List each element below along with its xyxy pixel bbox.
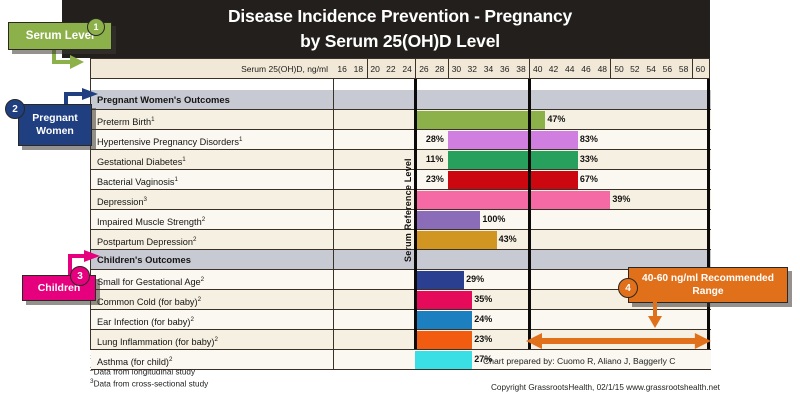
callout-pregnant-women-line1: Pregnant [32, 112, 78, 125]
axis-tick-30: 30 [448, 59, 464, 79]
chart-bar[interactable] [415, 351, 472, 369]
bar-value-label: 29% [466, 270, 484, 290]
axis-tick-42: 42 [545, 59, 561, 79]
chart-row-label: Asthma (for child)2 [91, 350, 334, 369]
bar-start-value-label: 28% [426, 130, 444, 150]
chart-row-label: Small for Gestational Age2 [91, 270, 334, 289]
footnote-3: 3Data from cross-sectional study [90, 378, 208, 389]
bar-start-value-label: 11% [426, 150, 444, 170]
chart-row-label: Ear Infection (for baby)2 [91, 310, 334, 329]
recommended-range-arrow [524, 331, 713, 351]
axis-tick-44: 44 [562, 59, 578, 79]
chart-bar[interactable] [415, 191, 610, 209]
chart-row-label-note: 3 [143, 196, 146, 203]
chart-row-label-note: 2 [201, 276, 204, 283]
chart-bar[interactable] [415, 231, 496, 249]
section-header-row: Pregnant Women's Outcomes [91, 90, 711, 110]
axis-tick-26: 26 [415, 59, 431, 79]
chart-row-label-note: 2 [193, 236, 196, 243]
connector-serum-level [48, 48, 94, 72]
bar-start-value-label: 23% [426, 170, 444, 190]
bar-value-label: 35% [474, 290, 492, 310]
chart-row-label: Hypertensive Pregnancy Disorders1 [91, 130, 334, 149]
axis-tick-60: 60 [692, 59, 708, 79]
axis-tick-22: 22 [383, 59, 399, 79]
range-line-60 [707, 79, 710, 349]
badge-2-number: 2 [12, 104, 18, 115]
bar-value-label: 27% [474, 350, 492, 370]
section-header-row: Children's Outcomes [91, 250, 711, 270]
bar-value-label: 100% [482, 210, 505, 230]
chart-row-label: Postpartum Depression2 [91, 230, 334, 249]
section-header-label: Pregnant Women's Outcomes [91, 90, 334, 109]
axis-tick-46: 46 [578, 59, 594, 79]
title-line-1: Disease Incidence Prevention - Pregnancy [90, 4, 710, 29]
axis-tick-24: 24 [399, 59, 415, 79]
chart-row-label-note: 2 [214, 336, 217, 343]
axis-tick-20: 20 [367, 59, 383, 79]
chart-bar[interactable] [448, 171, 578, 189]
connector-recommended-range [646, 296, 672, 330]
footnote-3-text: Data from cross-sectional study [94, 380, 209, 389]
page-title: Disease Incidence Prevention - Pregnancy… [90, 4, 710, 56]
axis-tick-16: 16 [334, 59, 350, 79]
chart-row[interactable]: Preterm Birth147% [91, 110, 711, 130]
chart-row-label-note: 1 [174, 176, 177, 183]
callout-serum-level-label: Serum Level [26, 30, 94, 42]
chart-row-label-note: 1 [239, 136, 242, 143]
axis-tick-18: 18 [350, 59, 366, 79]
chart-bar[interactable] [415, 331, 472, 349]
chart-frame: Serum 25(OH)D, ng/ml 1618202224262830323… [90, 58, 710, 350]
chart-row[interactable]: Common Cold (for baby)235% [91, 290, 711, 310]
axis-tick-58: 58 [675, 59, 691, 79]
axis-tick-38: 38 [513, 59, 529, 79]
badge-3-number: 3 [77, 271, 83, 282]
infographic-root: Disease Incidence Prevention - Pregnancy… [0, 0, 800, 401]
chart-row-label: Common Cold (for baby)2 [91, 290, 334, 309]
chart-row-label-note: 2 [198, 296, 201, 303]
chart-bar[interactable] [415, 211, 480, 229]
bar-value-label: 83% [580, 130, 598, 150]
chart-credit: Chart prepared by: Cuomo R, Aliano J, Ba… [483, 356, 676, 366]
chart-bar[interactable] [415, 311, 472, 329]
chart-row-label: Depression3 [91, 190, 334, 209]
chart-row-label: Lung Inflammation (for baby)2 [91, 330, 334, 349]
callout-range-line2: Range [692, 285, 723, 298]
axis-tick-54: 54 [643, 59, 659, 79]
chart-row[interactable]: Hypertensive Pregnancy Disorders183%28% [91, 130, 711, 150]
chart-bar[interactable] [415, 291, 472, 309]
chart-row-label: Bacterial Vaginosis1 [91, 170, 334, 189]
chart-bar[interactable] [448, 131, 578, 149]
badge-1-number: 1 [93, 22, 98, 32]
range-line-40 [528, 79, 531, 349]
bar-value-label: 24% [474, 310, 492, 330]
axis-tick-56: 56 [659, 59, 675, 79]
axis-tick-36: 36 [497, 59, 513, 79]
title-line-2: by Serum 25(OH)D Level [90, 29, 710, 54]
reference-level-caption: Serum Reference Level [403, 112, 413, 262]
chart-row[interactable]: Gestational Diabetes133%11% [91, 150, 711, 170]
axis-tick-52: 52 [627, 59, 643, 79]
copyright-text: Copyright GrassrootsHealth, 02/1/15 www.… [491, 383, 720, 392]
chart-row[interactable]: Depression339% [91, 190, 711, 210]
bar-value-label: 67% [580, 170, 598, 190]
bar-value-label: 43% [499, 230, 517, 250]
callout-range-line1: 40-60 ng/ml Recommended [642, 272, 774, 285]
chart-row-label-note: 2 [190, 316, 193, 323]
chart-row-label-note: 2 [169, 356, 172, 363]
bar-value-label: 47% [547, 110, 565, 130]
callout-pregnant-women-line2: Women [36, 125, 74, 138]
chart-row-label: Impaired Muscle Strength2 [91, 210, 334, 229]
chart-bar[interactable] [415, 111, 545, 129]
axis-tick-32: 32 [464, 59, 480, 79]
axis-label: Serum 25(OH)D, ng/ml [91, 59, 334, 79]
chart-row[interactable]: Impaired Muscle Strength2100% [91, 210, 711, 230]
chart-row[interactable]: Postpartum Depression243% [91, 230, 711, 250]
plot-grid-area: Pregnant Women's OutcomesPreterm Birth14… [91, 79, 711, 349]
axis-tick-40: 40 [529, 59, 545, 79]
axis-tick-28: 28 [432, 59, 448, 79]
axis-tick-34: 34 [480, 59, 496, 79]
footnote-2-text: Data from longitudinal study [94, 368, 196, 377]
axis-tick-48: 48 [594, 59, 610, 79]
badge-4-number: 4 [625, 283, 631, 294]
chart-row-label: Preterm Birth1 [91, 110, 334, 129]
callout-pregnant-women[interactable]: Pregnant Women [18, 104, 92, 146]
chart-row[interactable]: Bacterial Vaginosis167%23% [91, 170, 711, 190]
badge-2[interactable]: 2 [5, 99, 25, 119]
section-header-label: Children's Outcomes [91, 250, 334, 269]
chart-row[interactable]: Ear Infection (for baby)224% [91, 310, 711, 330]
badge-4[interactable]: 4 [618, 278, 638, 298]
chart-row-label-note: 1 [151, 116, 154, 123]
chart-row-label-note: 1 [182, 156, 185, 163]
badge-3[interactable]: 3 [70, 266, 90, 286]
chart-row-label-note: 2 [202, 216, 205, 223]
bar-value-label: 23% [474, 330, 492, 350]
chart-bar[interactable] [448, 151, 578, 169]
axis-tick-50: 50 [610, 59, 626, 79]
serum-reference-line [414, 79, 417, 349]
chart-row-label: Gestational Diabetes1 [91, 150, 334, 169]
chart-bar[interactable] [415, 271, 464, 289]
bar-value-label: 33% [580, 150, 598, 170]
axis-header-row: Serum 25(OH)D, ng/ml 1618202224262830323… [91, 59, 709, 79]
badge-1[interactable]: 1 [87, 18, 105, 36]
bar-value-label: 39% [612, 190, 630, 210]
